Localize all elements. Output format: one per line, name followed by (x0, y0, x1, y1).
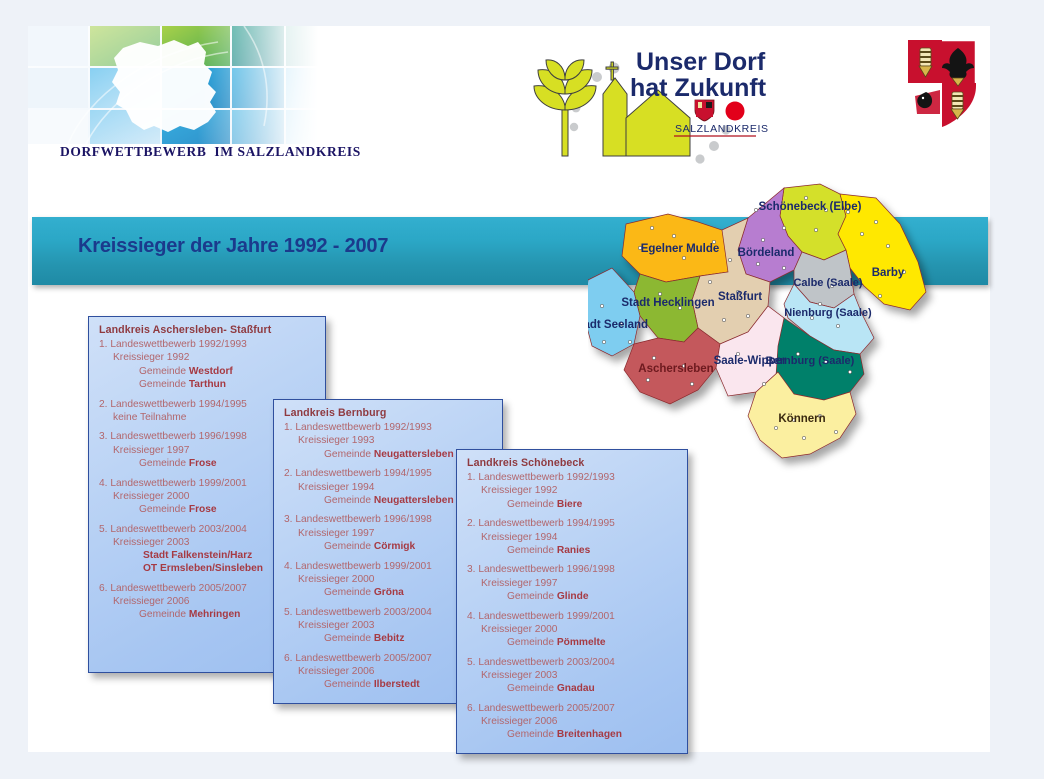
competition-entry: 4. Landeswettbewerb 1999/2001Kreissieger… (467, 610, 677, 650)
competition-period: 4. Landeswettbewerb 1999/2001 (467, 610, 677, 623)
winner-name: Gemeinde Ranies (467, 544, 677, 557)
map-label-aschersleben: Aschersleben (638, 363, 713, 375)
map-label-nienburg: Nienburg (Saale) (784, 307, 872, 319)
map-label-stassfurt: Staßfurt (718, 291, 762, 303)
winner-name: Gemeinde Westdorf (99, 365, 315, 378)
slide-canvas: Unser Dorf hat Zukunft SALZLANDKREIS (28, 26, 990, 752)
map-label-koennern: Könnern (778, 413, 825, 425)
winner-year: Kreissieger 2000 (467, 623, 677, 636)
panel-heading: Landkreis Aschersleben- Staßfurt (99, 324, 315, 337)
header-decorative-artwork (28, 26, 318, 144)
page-subtitle: DORFWETTBEWERB IM SALZLANDKREIS (60, 144, 361, 160)
logo-line-1: Unser Dorf (636, 48, 766, 76)
winner-name: Gemeinde Breitenhagen (467, 728, 677, 741)
winner-name: Gemeinde Pömmelte (467, 636, 677, 649)
map-label-schoenebeck: Schönebeck (Elbe) (759, 201, 862, 213)
map-label-hecklingen: Stadt Hecklingen (621, 297, 714, 309)
competition-entry: 1. Landeswettbewerb 1992/1993Kreissieger… (99, 338, 315, 391)
competition-period: 6. Landeswettbewerb 2005/2007 (467, 702, 677, 715)
map-label-bernburg: Bernburg (Saale) (766, 355, 855, 367)
map-label-boerdeland: Bördeland (738, 247, 795, 259)
competition-entry: 5. Landeswettbewerb 2003/2004Kreissieger… (467, 656, 677, 696)
winner-year: Kreissieger 1993 (284, 434, 492, 447)
winner-name: Gemeinde Gnadau (467, 682, 677, 695)
winner-year: Kreissieger 1992 (99, 351, 315, 364)
winner-year: Kreissieger 2006 (467, 715, 677, 728)
logo-crest-label: SALZLANDKREIS (675, 123, 769, 135)
coat-of-arms-icon (900, 34, 984, 134)
competition-entry: 3. Landeswettbewerb 1996/1998Kreissieger… (467, 563, 677, 603)
competition-period: 1. Landeswettbewerb 1992/1993 (284, 421, 492, 434)
unser-dorf-hat-zukunft-logo: Unser Dorf hat Zukunft SALZLANDKREIS (518, 32, 818, 172)
winner-year: Kreissieger 2003 (467, 669, 677, 682)
page-title: Kreissieger der Jahre 1992 - 2007 (78, 235, 388, 258)
competition-period: 1. Landeswettbewerb 1992/1993 (99, 338, 315, 351)
competition-period: 5. Landeswettbewerb 2003/2004 (467, 656, 677, 669)
header-band: Unser Dorf hat Zukunft SALZLANDKREIS (28, 26, 990, 186)
winner-name: Gemeinde Tarthun (99, 378, 315, 391)
map-label-barby: Barby (872, 267, 905, 279)
competition-period: 3. Landeswettbewerb 1996/1998 (467, 563, 677, 576)
competition-entry: 6. Landeswettbewerb 2005/2007Kreissieger… (467, 702, 677, 742)
panel-heading: Landkreis Bernburg (284, 407, 492, 420)
salzlandkreis-map: Schönebeck (Elbe) Barby Bördeland Calbe … (588, 176, 988, 536)
winner-year: Kreissieger 1997 (467, 577, 677, 590)
map-label-calbe: Calbe (Saale) (793, 277, 862, 289)
winner-name: Gemeinde Glinde (467, 590, 677, 603)
logo-line-2: hat Zukunft (630, 74, 767, 102)
map-region-seeland (588, 268, 640, 356)
map-label-seeland: Stadt Seeland (588, 319, 648, 331)
map-label-egelner-mulde: Egelner Mulde (641, 243, 720, 255)
